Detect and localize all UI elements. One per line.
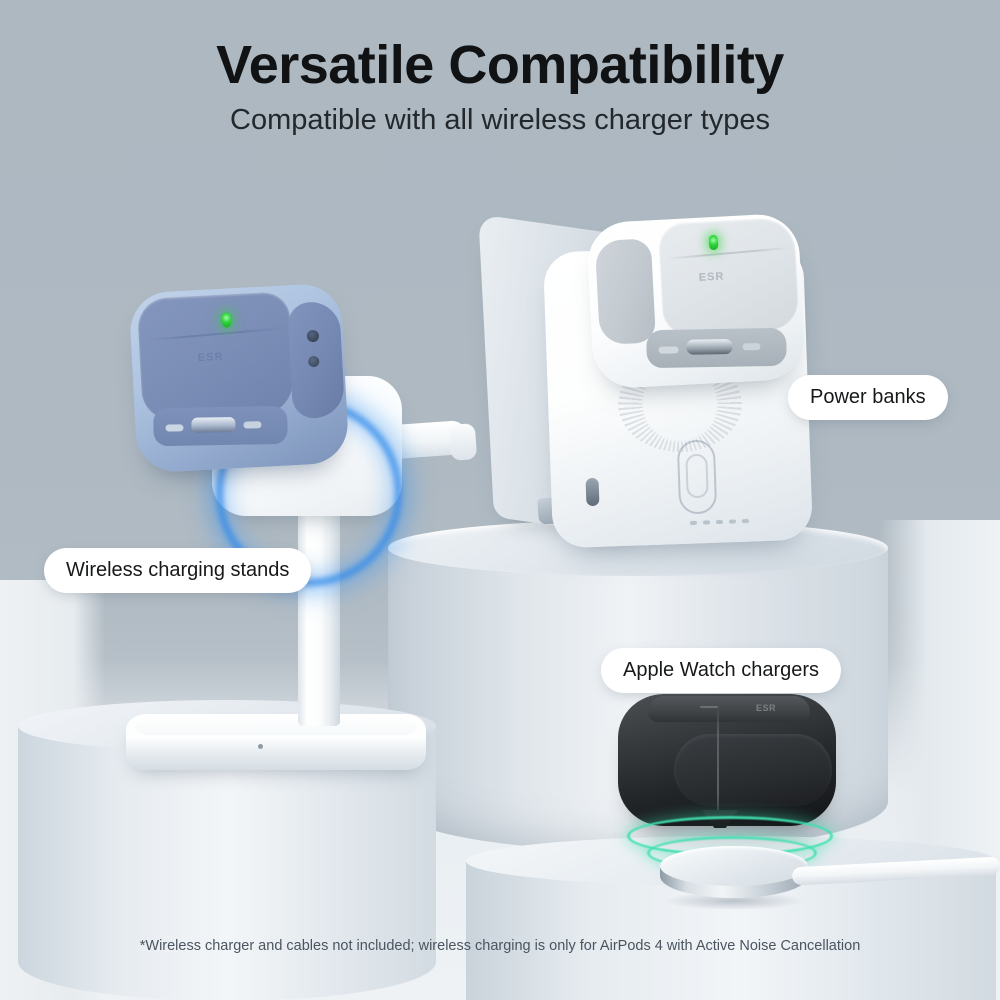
airpods-case-blue: ESR	[128, 283, 349, 474]
white-case-port-right-grille	[742, 343, 760, 350]
footnote-disclaimer: *Wireless charger and cables not include…	[0, 938, 1000, 954]
black-case-front-oval	[674, 734, 832, 806]
power-bank-magnet-inner	[685, 454, 709, 499]
black-case-top-dash	[700, 706, 718, 708]
airpods-case-white: ESR	[586, 213, 806, 390]
stand-arm-tip	[449, 423, 477, 461]
stand-base-top	[136, 717, 416, 735]
blue-case-usbc-port	[191, 417, 235, 433]
white-case-port-left-grille	[658, 346, 678, 353]
white-case-usbc-port	[686, 339, 732, 355]
blue-case-port-right-grille	[243, 421, 261, 428]
blue-case-port-left-grille	[165, 424, 183, 431]
black-case-seam	[717, 704, 719, 824]
battery-led-2	[703, 520, 710, 524]
blue-case-esr-logo: ESR	[198, 351, 224, 364]
airpods-case-black: ESR	[618, 694, 836, 826]
page-title: Versatile Compatibility	[0, 34, 1000, 96]
power-bank-usbc-port	[586, 478, 600, 506]
white-case-side-panel	[595, 238, 656, 345]
battery-led-1	[690, 521, 697, 525]
white-case-lid	[658, 217, 800, 336]
white-case-charging-led	[709, 235, 719, 250]
battery-led-4	[729, 519, 736, 523]
callout-apple-watch-chargers: Apple Watch chargers	[601, 648, 841, 693]
callout-wireless-charging-stands: Wireless charging stands	[44, 548, 311, 593]
stand-base	[126, 714, 426, 770]
blue-case-charging-led	[222, 312, 232, 327]
white-case-esr-logo: ESR	[698, 270, 724, 283]
apple-watch-charger-puck	[660, 846, 808, 908]
black-case-esr-logo: ESR	[756, 703, 776, 713]
black-case-top-face	[648, 696, 810, 722]
callout-power-banks: Power banks	[788, 375, 948, 420]
stand-status-led	[258, 744, 263, 749]
puck-top-surface	[660, 846, 808, 886]
battery-led-5	[742, 519, 749, 523]
product-scene: ESR ESR	[0, 0, 1000, 1000]
battery-led-3	[716, 520, 723, 524]
page-subtitle: Compatible with all wireless charger typ…	[0, 104, 1000, 137]
